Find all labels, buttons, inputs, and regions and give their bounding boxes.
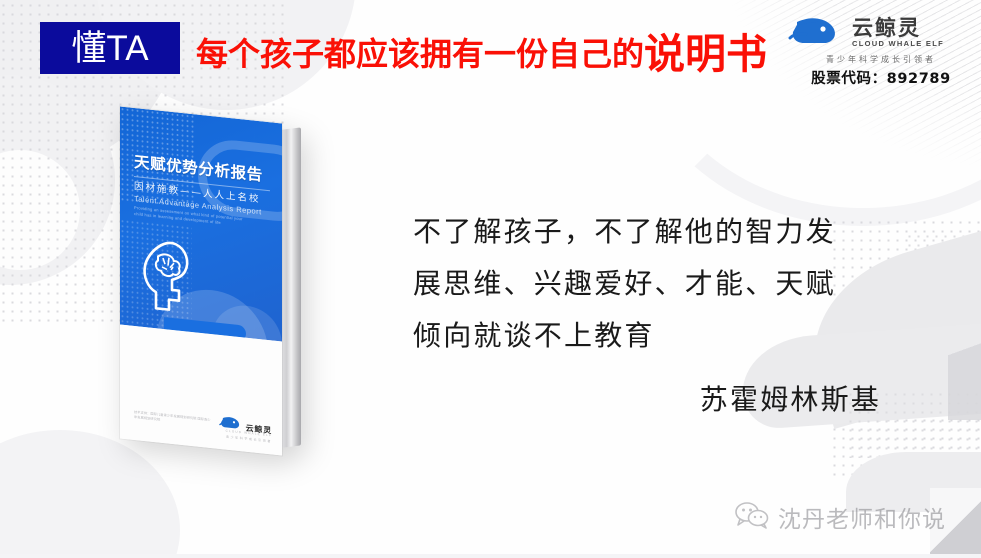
quote-block: 不了解孩子，不了解他的智力发 展思维、兴趣爱好、才能、天赋 倾向就谈不上教育	[413, 206, 893, 362]
title-badge: 懂TA	[40, 22, 180, 74]
book-footer-note: 技术支持：国际儿童青少年发展规划研究院 国际青少年发展规划研究院	[134, 410, 212, 428]
wechat-bubbles-icon	[735, 501, 769, 534]
wechat-watermark: 沈丹老师和你说	[735, 500, 946, 534]
brand-name-en: CLOUD WHALE ELF	[852, 39, 944, 49]
head-brain-icon	[136, 234, 198, 324]
quote-line-1: 不了解孩子，不了解他的智力发	[413, 206, 893, 258]
decor-circle-left	[0, 75, 115, 285]
whale-icon	[788, 16, 844, 50]
wechat-watermark-label: 沈丹老师和你说	[778, 500, 946, 534]
title-badge-label: 懂TA	[71, 31, 148, 66]
page-title-emphasis: 说明书	[644, 30, 767, 78]
quote-attribution: 苏霍姆林斯基	[413, 378, 881, 422]
decor-corner-shade-right	[948, 300, 981, 420]
brand-logo-row: 云鲸灵 CLOUD WHALE ELF	[788, 14, 974, 52]
decor-bottom-rule	[0, 554, 981, 558]
slide-canvas: 懂TA 每个孩子都应该拥有一份自己的说明书 云鲸灵 CLOUD WHALE EL…	[0, 0, 981, 558]
book-cover-bottom: 技术支持：国际儿童青少年发展规划研究院 国际青少年发展规划研究院 云鲸灵 CLO…	[120, 324, 282, 455]
book-front-cover: 天赋优势分析报告 因材施教——人人上名校 Talent Advantage An…	[120, 106, 282, 455]
brand-tagline: 青少年科学成长引领者	[788, 54, 974, 65]
page-title-normal: 每个孩子都应该拥有一份自己的	[196, 35, 644, 73]
stock-code: 股票代码：892789	[788, 67, 974, 88]
book-cover-top: 天赋优势分析报告 因材施教——人人上名校 Talent Advantage An…	[120, 106, 282, 341]
quote-line-2: 展思维、兴趣爱好、才能、天赋	[413, 258, 893, 310]
decor-circle-left-inner	[0, 150, 80, 270]
brand-logo: 云鲸灵 CLOUD WHALE ELF 青少年科学成长引领者 股票代码：8927…	[788, 14, 974, 90]
quote-line-3: 倾向就谈不上教育	[413, 310, 893, 362]
brand-logo-names: 云鲸灵 CLOUD WHALE ELF	[852, 17, 944, 49]
book-mockup: 天赋优势分析报告 因材施教——人人上名校 Talent Advantage An…	[112, 115, 332, 455]
decor-dots-right-top	[905, 232, 981, 272]
brand-name-cn: 云鲸灵	[852, 17, 944, 39]
page-title: 每个孩子都应该拥有一份自己的说明书	[196, 32, 767, 76]
